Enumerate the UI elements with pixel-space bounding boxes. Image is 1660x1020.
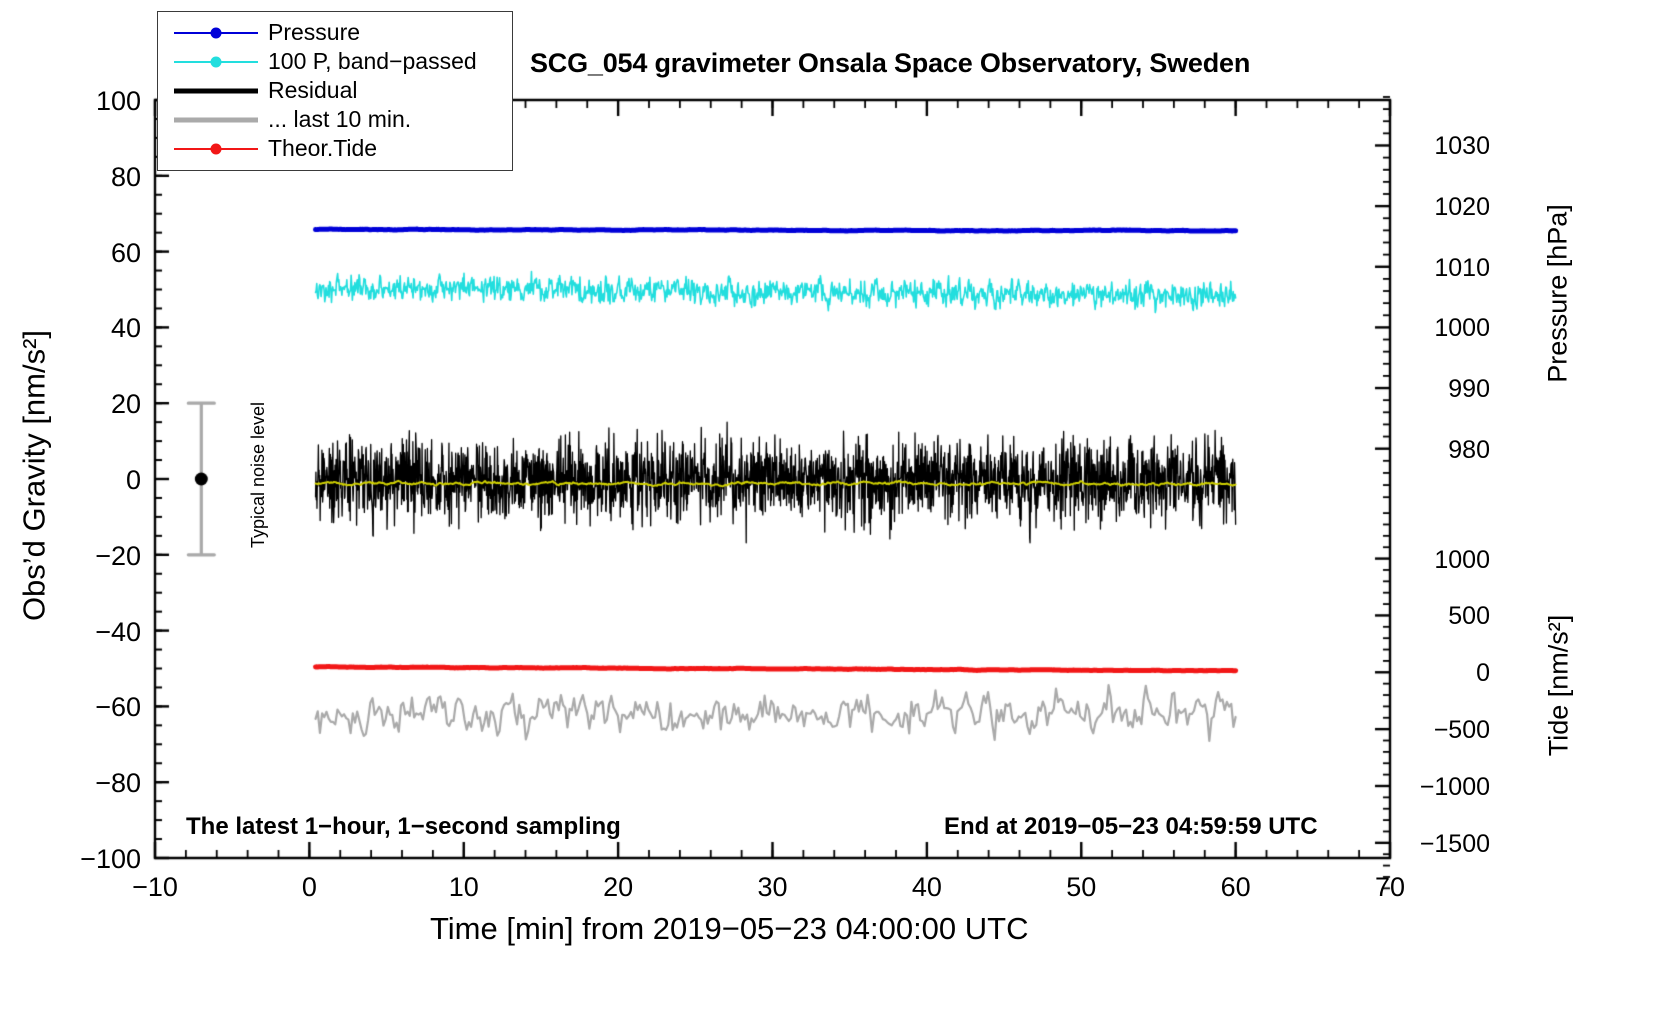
x-tick-label: 40	[887, 872, 967, 903]
tide-tick-label: −1500	[1408, 830, 1490, 859]
pressure-tick-label: 1020	[1408, 193, 1490, 222]
gravimeter-chart-figure: SCG_054 gravimeter Onsala Space Observat…	[0, 0, 1660, 1020]
legend-item-2[interactable]: Residual	[158, 76, 512, 105]
legend-label: 100 P, band−passed	[258, 48, 477, 75]
chart-legend[interactable]: Pressure100 P, band−passedResidual... la…	[157, 11, 513, 171]
chart-title: SCG_054 gravimeter Onsala Space Observat…	[530, 50, 1250, 77]
y-tick-label: −40	[51, 617, 141, 648]
legend-label: Theor.Tide	[258, 135, 377, 162]
pressure-tick-label: 1030	[1408, 132, 1490, 161]
noise-level-label: Typical noise level	[249, 375, 267, 575]
legend-label: Pressure	[258, 19, 360, 46]
y-tick-label: −60	[51, 692, 141, 723]
legend-swatch	[174, 23, 258, 43]
pressure-tick-label: 980	[1408, 436, 1490, 465]
legend-swatch	[174, 110, 258, 130]
tide-tick-label: 1000	[1408, 546, 1490, 575]
annotation-latest-sampling: The latest 1−hour, 1−second sampling	[186, 815, 621, 839]
tide-tick-label: 0	[1408, 659, 1490, 688]
x-tick-label: 0	[269, 872, 349, 903]
y-tick-label: 0	[51, 465, 141, 496]
legend-marker-icon	[211, 27, 222, 38]
tide-tick-label: 500	[1408, 602, 1490, 631]
legend-item-3[interactable]: ... last 10 min.	[158, 105, 512, 134]
y-tick-label: 60	[51, 238, 141, 269]
tide-tick-label: −1000	[1408, 773, 1490, 802]
y-tick-label: 100	[51, 86, 141, 117]
y-tick-label: 20	[51, 389, 141, 420]
y-tick-label: 80	[51, 162, 141, 193]
legend-item-1[interactable]: 100 P, band−passed	[158, 47, 512, 76]
tide-tick-label: −500	[1408, 716, 1490, 745]
x-tick-label: 20	[578, 872, 658, 903]
legend-marker-icon	[211, 56, 222, 67]
y-tick-label: −100	[51, 844, 141, 875]
legend-item-0[interactable]: Pressure	[158, 18, 512, 47]
legend-swatch	[174, 81, 258, 101]
annotation-end-time: End at 2019−05−23 04:59:59 UTC	[944, 815, 1318, 839]
legend-label: ... last 10 min.	[258, 106, 411, 133]
x-tick-label: 70	[1350, 872, 1430, 903]
x-tick-label: −10	[115, 872, 195, 903]
y-tick-label: 40	[51, 313, 141, 344]
pressure-tick-label: 1000	[1408, 314, 1490, 343]
legend-marker-icon	[211, 143, 222, 154]
y-tick-label: −80	[51, 768, 141, 799]
x-tick-label: 10	[424, 872, 504, 903]
y-axis-label-pressure: Pressure [hPa]	[1545, 154, 1572, 434]
x-tick-label: 50	[1041, 872, 1121, 903]
legend-label: Residual	[258, 77, 358, 104]
legend-line-icon	[174, 88, 258, 93]
y-axis-label-gravity: Obs’d Gravity [nm/s²]	[19, 266, 50, 686]
x-tick-label: 30	[733, 872, 813, 903]
legend-swatch	[174, 139, 258, 159]
legend-line-icon	[174, 117, 258, 122]
pressure-tick-label: 1010	[1408, 254, 1490, 283]
x-axis-label: Time [min] from 2019−05−23 04:00:00 UTC	[430, 913, 1029, 944]
y-axis-label-tide: Tide [nm/s²]	[1546, 561, 1573, 811]
y-tick-label: −20	[51, 541, 141, 572]
legend-item-4[interactable]: Theor.Tide	[158, 134, 512, 163]
x-tick-label: 60	[1196, 872, 1276, 903]
pressure-tick-label: 990	[1408, 375, 1490, 404]
legend-swatch	[174, 52, 258, 72]
